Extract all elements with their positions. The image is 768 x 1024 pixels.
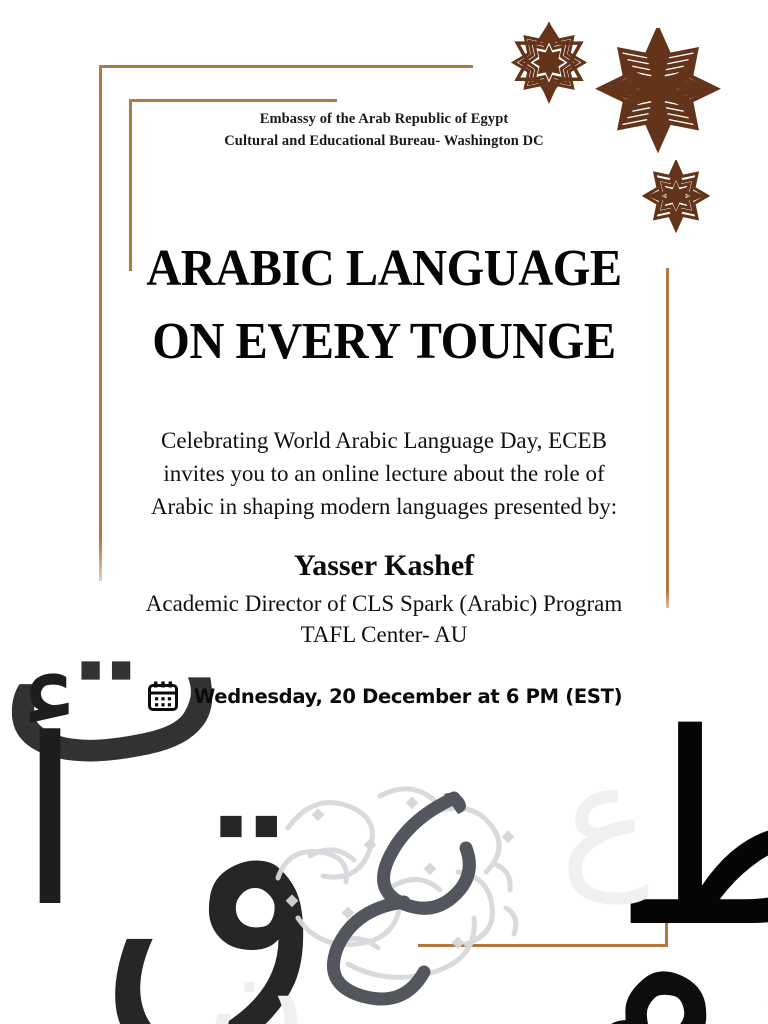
frame-outer-top-line: [99, 65, 473, 68]
speaker-role-line-1: Academic Director of CLS Spark (Arabic) …: [0, 588, 768, 619]
event-description: Celebrating World Arabic Language Day, E…: [0, 424, 768, 523]
islamic-star-small-icon: [637, 160, 715, 238]
poster-canvas: ت أ ق ط م س ع ن: [0, 0, 768, 1024]
speaker-role: Academic Director of CLS Spark (Arabic) …: [0, 588, 768, 650]
calendar-icon: [146, 679, 180, 713]
organization-line-1: Embassy of the Arab Republic of Egypt: [0, 108, 768, 130]
ghost-letter-1-decoration: ع: [560, 742, 650, 892]
arabic-letter-alef-hamza-decoration: أ: [18, 710, 82, 940]
speaker-role-line-2: TAFL Center- AU: [0, 619, 768, 650]
poster-title-line-1: ARABIC LANGUAGE: [27, 232, 741, 305]
event-datetime-text: Wednesday, 20 December at 6 PM (EST): [194, 685, 622, 708]
speaker-name: Yasser Kashef: [0, 548, 768, 584]
event-description-line-1: Celebrating World Arabic Language Day, E…: [0, 424, 768, 457]
arabic-letter-seen-decoration: س: [660, 888, 768, 1024]
islamic-star-medium-icon: [505, 22, 593, 110]
organization-header: Embassy of the Arab Republic of Egypt Cu…: [0, 108, 768, 152]
arabic-calligraphy-watermark: [258, 768, 558, 1008]
event-description-line-3: Arabic in shaping modern languages prese…: [0, 490, 768, 523]
frame-inner-top-line: [129, 99, 337, 102]
poster-title-line-2: ON EVERY TOUNGE: [27, 305, 741, 378]
organization-line-2: Cultural and Educational Bureau- Washing…: [0, 130, 768, 152]
poster-title: ARABIC LANGUAGE ON EVERY TOUNGE: [27, 232, 741, 378]
event-datetime-row: Wednesday, 20 December at 6 PM (EST): [0, 679, 768, 713]
event-description-line-2: invites you to an online lecture about t…: [0, 457, 768, 490]
